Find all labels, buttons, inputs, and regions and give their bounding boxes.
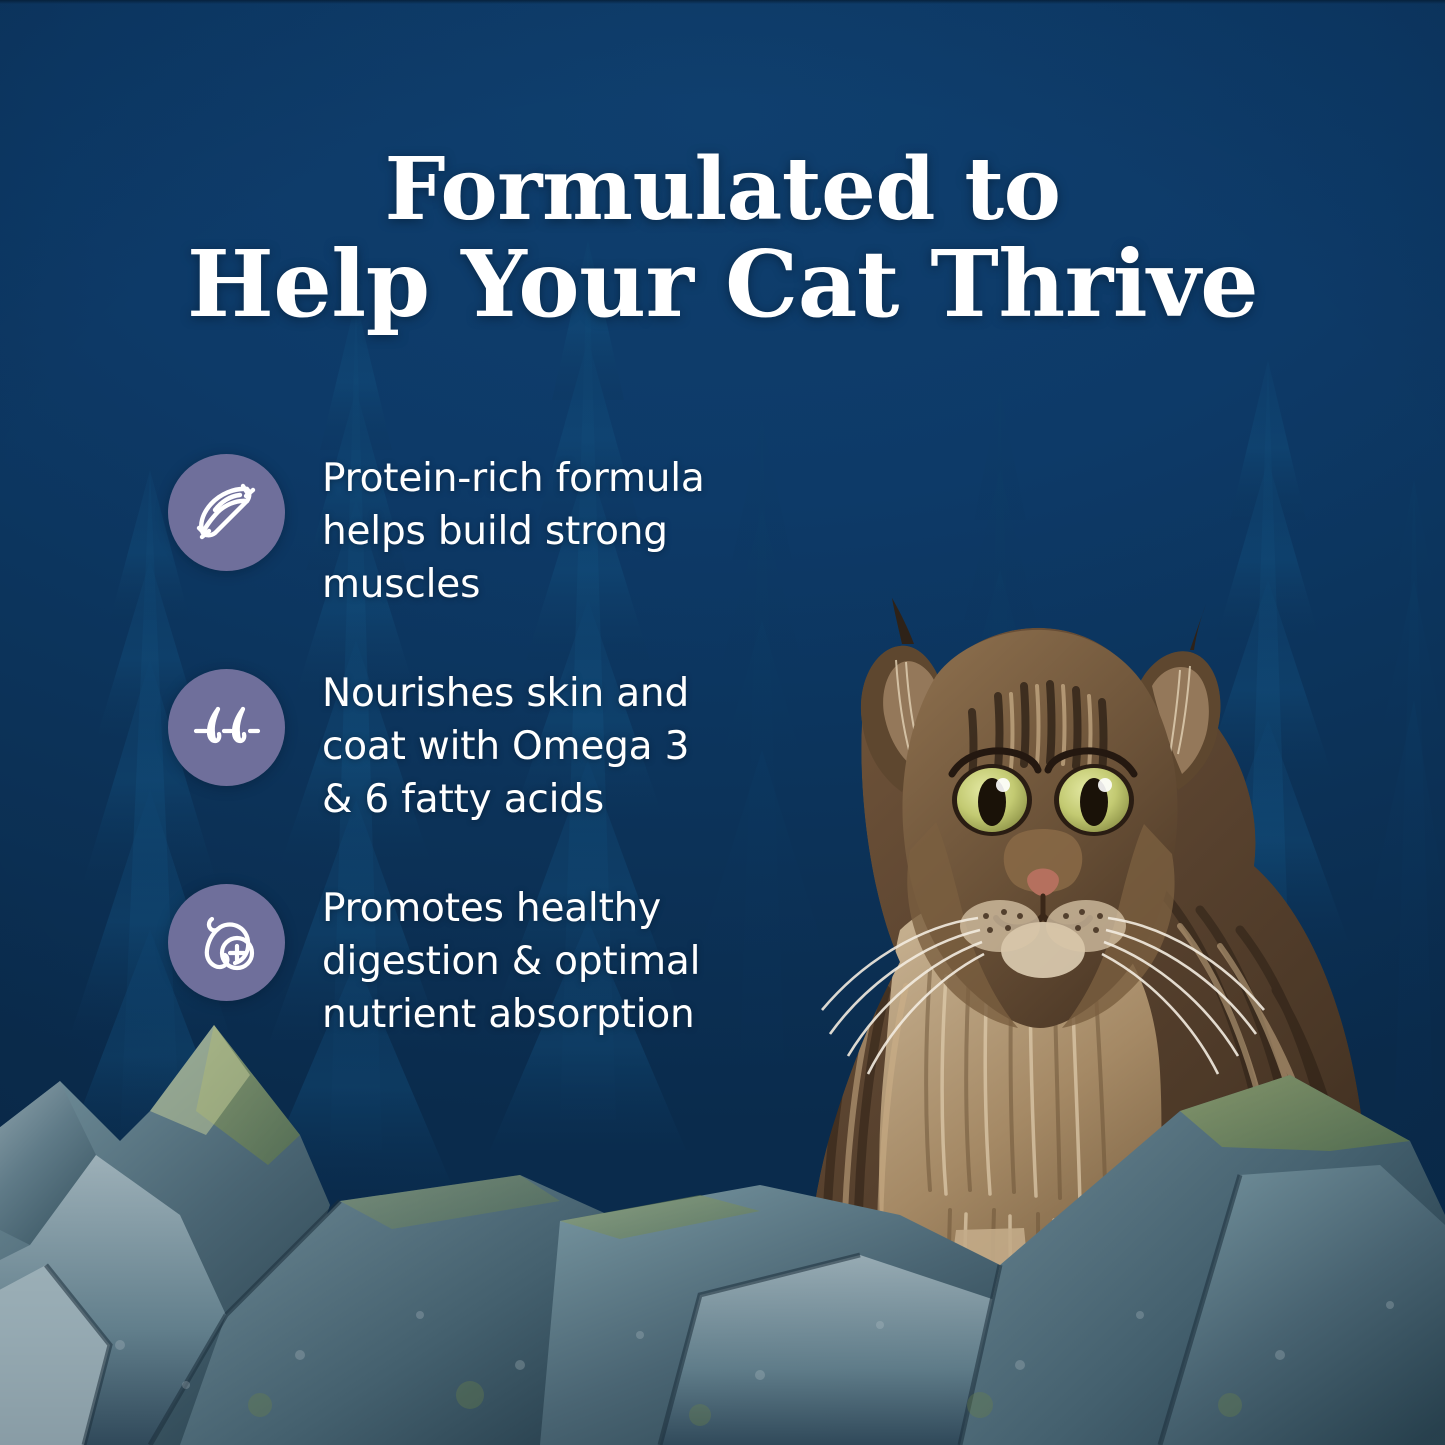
headline-line-2: Help Your Cat Thrive (0, 237, 1445, 332)
benefit-item: Nourishes skin and coat with Omega 3 & 6… (168, 665, 728, 826)
benefit-text: Nourishes skin and coat with Omega 3 & 6… (322, 665, 728, 826)
benefit-item: Protein-rich formula helps build strong … (168, 450, 728, 611)
headline-line-1: Formulated to (0, 142, 1445, 237)
page-title: Formulated to Help Your Cat Thrive (0, 142, 1445, 332)
benefit-text: Promotes healthy digestion & optimal nut… (322, 880, 728, 1041)
rock-formation (0, 1015, 1445, 1445)
benefit-item: Promotes healthy digestion & optimal nut… (168, 880, 728, 1041)
stomach-plus-icon (168, 884, 285, 1001)
hair-follicle-icon (168, 669, 285, 786)
muscle-icon (168, 454, 285, 571)
product-benefits-poster: Formulated to Help Your Cat Thrive Prote… (0, 0, 1445, 1445)
benefit-text: Protein-rich formula helps build strong … (322, 450, 728, 611)
benefits-list: Protein-rich formula helps build strong … (168, 450, 728, 1041)
